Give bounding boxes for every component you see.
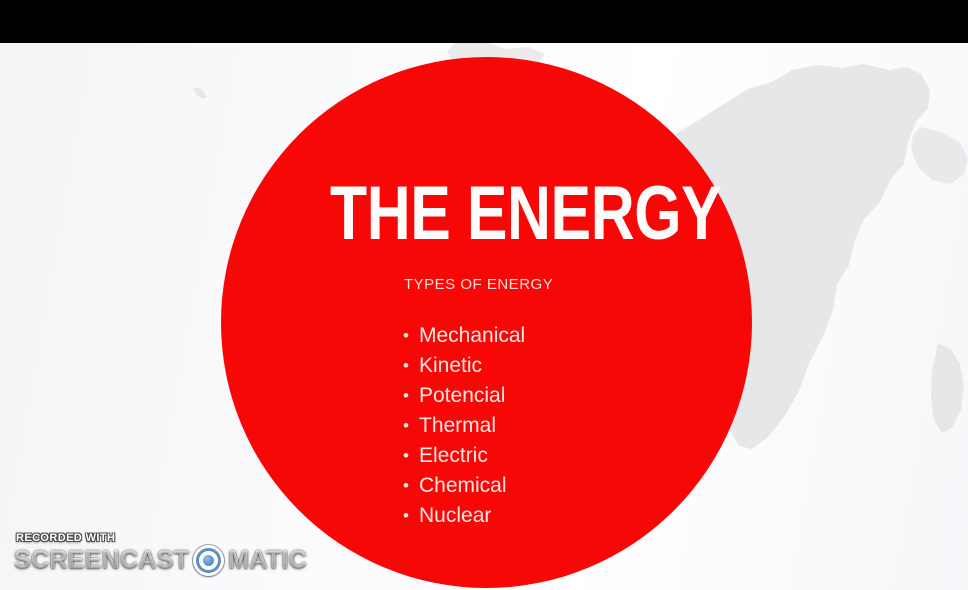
list-item: • Nuclear [402, 501, 525, 531]
list-item: • Electric [402, 441, 525, 471]
record-target-icon [193, 545, 224, 576]
list-item: • Potencial [402, 381, 525, 411]
screen-recording-frame: THE ENERGY TYPES OF ENERGY • Mechanical … [0, 0, 968, 590]
list-item-label: Nuclear [419, 504, 491, 527]
slide-subtitle: TYPES OF ENERGY [404, 275, 553, 295]
screencast-o-matic-watermark: RECORDED WITH SCREENCAST MATIC [14, 532, 307, 576]
list-item: • Thermal [402, 411, 525, 441]
list-item-label: Mechanical [419, 324, 525, 347]
list-item-label: Chemical [419, 474, 507, 497]
watermark-brand-right: MATIC [228, 546, 307, 575]
bullet-icon: • [403, 321, 409, 351]
list-item-label: Potencial [419, 384, 505, 407]
list-item-label: Electric [419, 444, 488, 467]
list-item: • Chemical [402, 471, 525, 501]
list-item: • Mechanical [402, 321, 525, 351]
slide-content: THE ENERGY TYPES OF ENERGY • Mechanical … [0, 43, 968, 590]
bullet-icon: • [403, 381, 409, 411]
bullet-icon: • [403, 441, 409, 471]
watermark-recorded-with-label: RECORDED WITH [16, 532, 307, 544]
list-item: • Kinetic [402, 351, 525, 381]
slide-title: THE ENERGY [330, 175, 594, 253]
watermark-logo-row: SCREENCAST MATIC [14, 545, 307, 576]
watermark-brand-left: SCREENCAST [14, 546, 189, 575]
bullet-icon: • [403, 411, 409, 441]
list-item-label: Thermal [419, 414, 496, 437]
presentation-slide: THE ENERGY TYPES OF ENERGY • Mechanical … [0, 43, 968, 590]
bullet-icon: • [403, 501, 409, 531]
energy-types-list: • Mechanical • Kinetic • Potencial • The… [402, 321, 525, 531]
list-item-label: Kinetic [419, 354, 482, 377]
bullet-icon: • [403, 471, 409, 501]
letterbox-bar-top [0, 0, 968, 43]
bullet-icon: • [403, 351, 409, 381]
